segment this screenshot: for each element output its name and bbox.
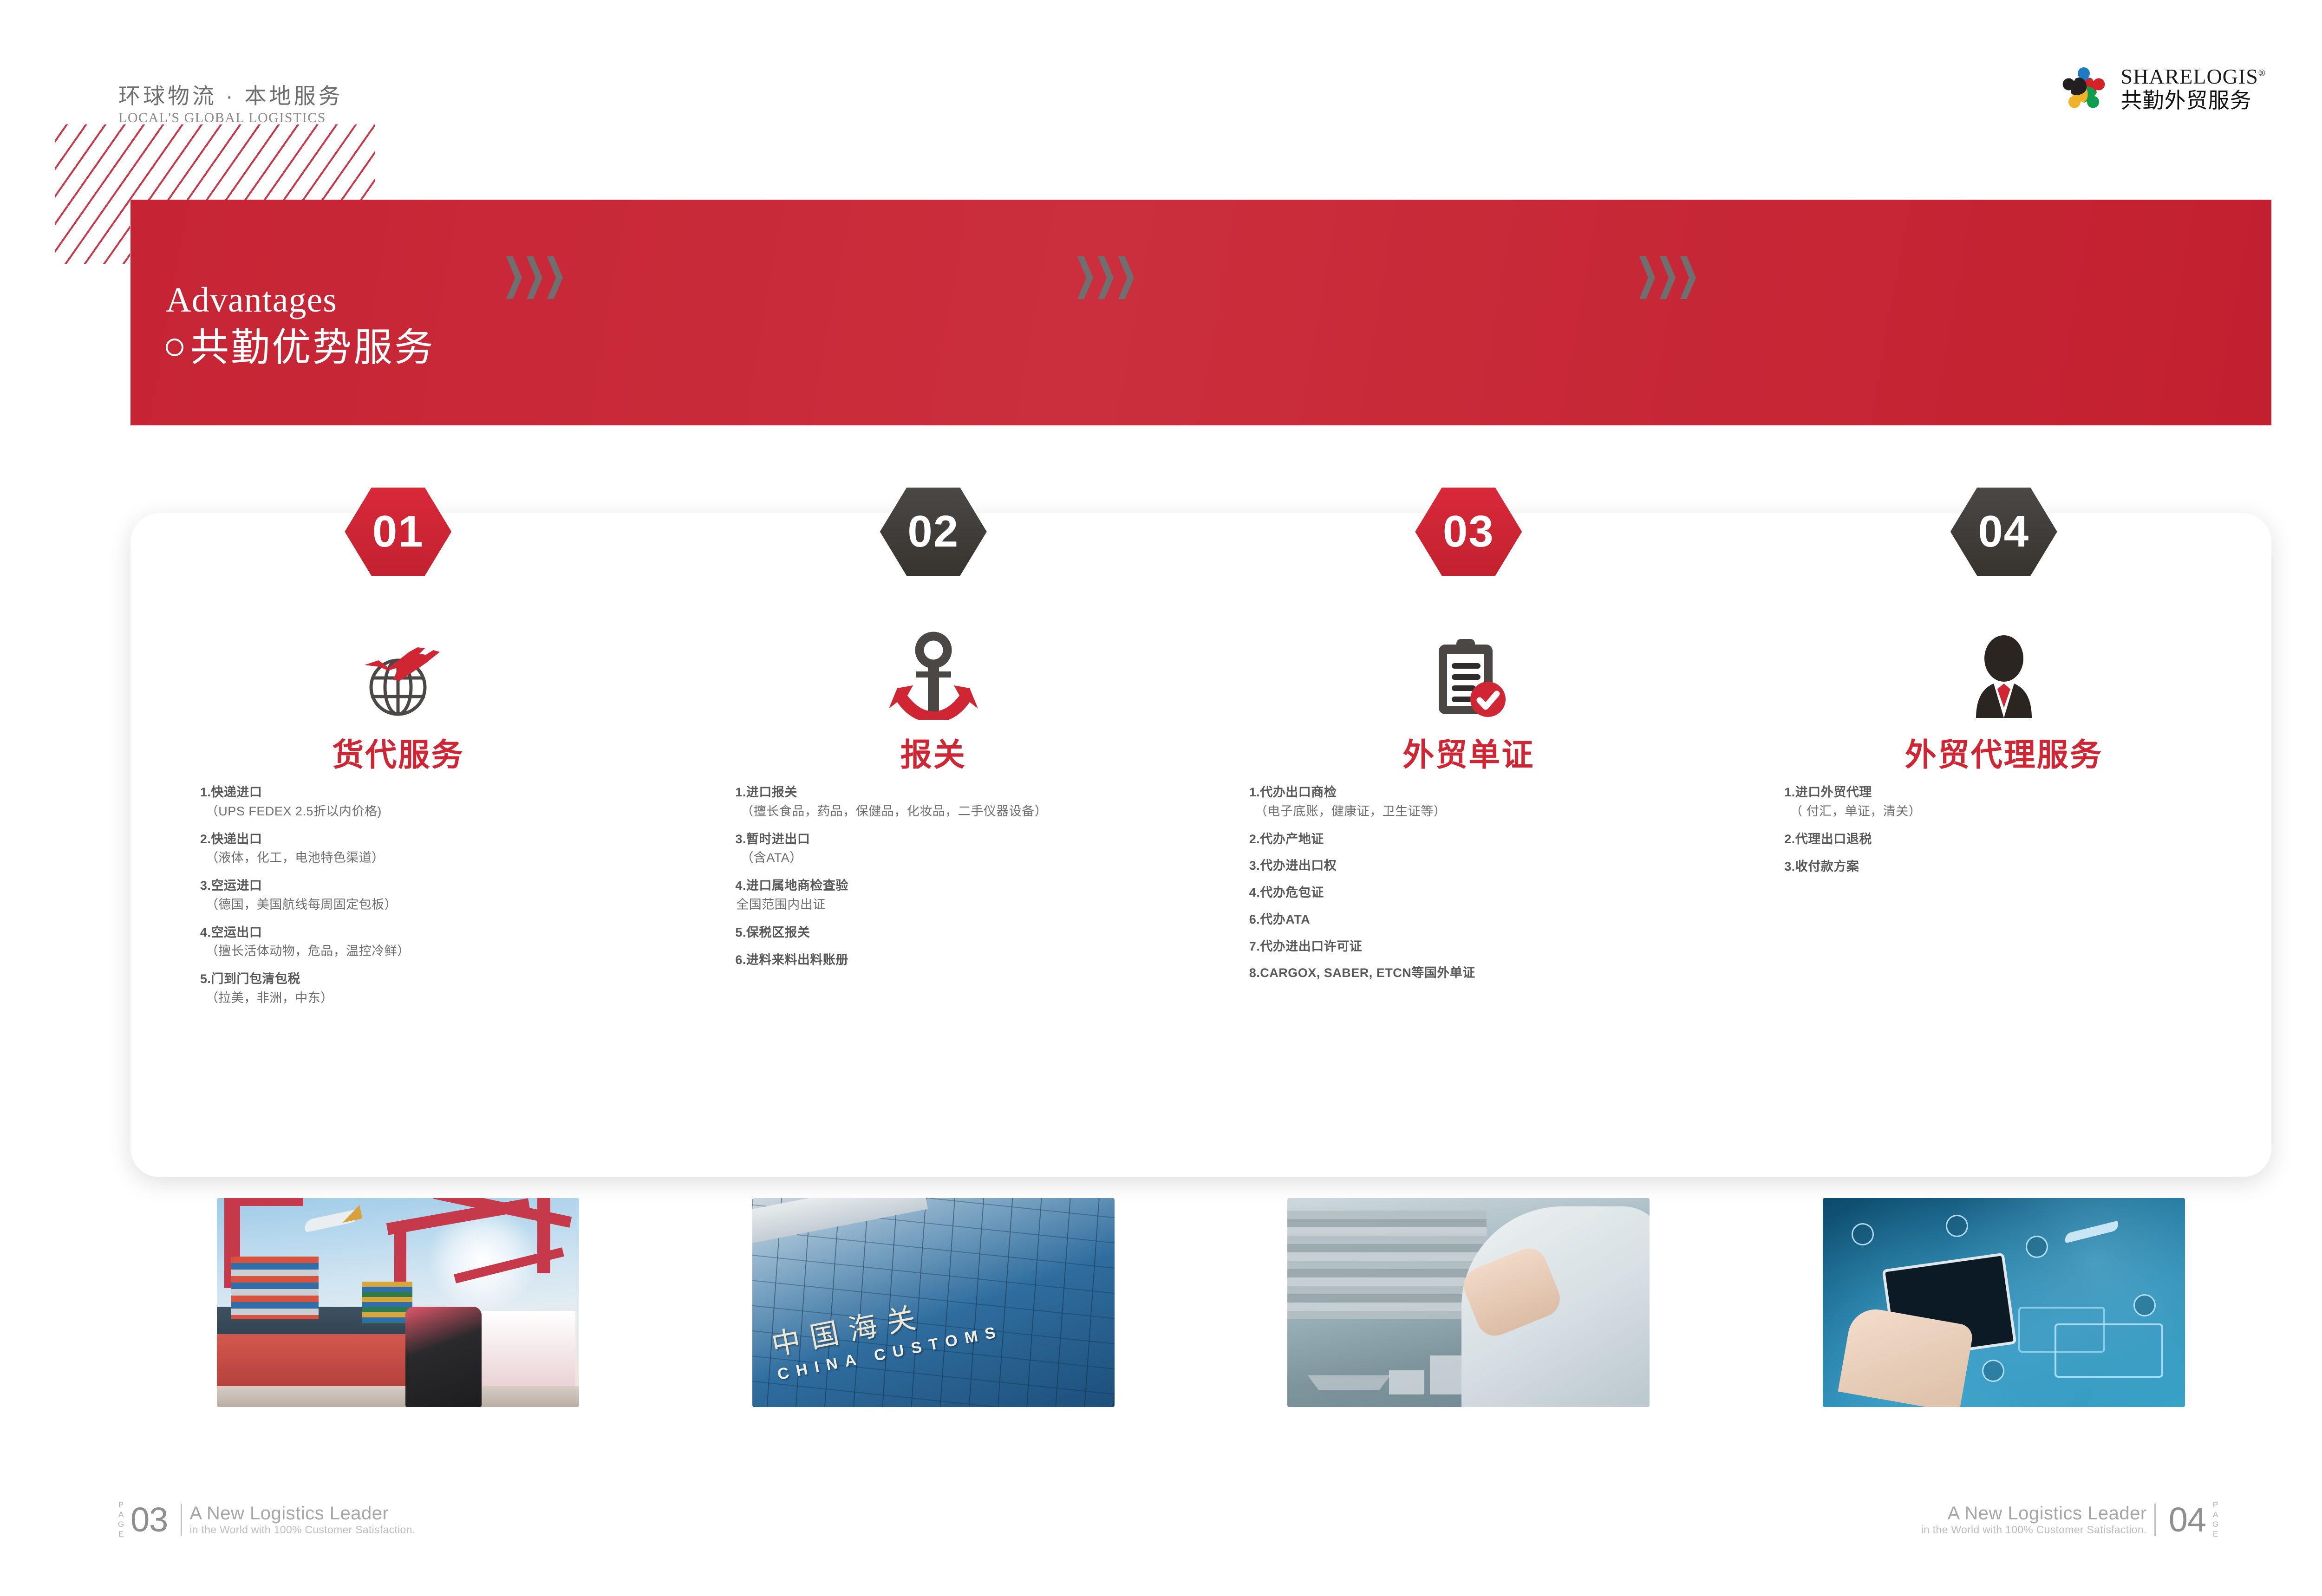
column-item-list: 1.代办出口商检（电子底账，健康证，卫生证等） 2.代办产地证 3.代办进出口权… (1249, 785, 1704, 992)
step-badge-04: 04 (1950, 488, 2057, 576)
list-item: 6.进料来料出料账册 (735, 952, 1169, 968)
item-head: 3.空运进口 (200, 878, 634, 894)
logo-name-en: SHARELOGIS® (2121, 66, 2266, 87)
footer-slogan-line2: in the World with 100% Customer Satisfac… (189, 1524, 415, 1536)
item-sub: 全国范围内出证 (735, 897, 1169, 913)
step-badge-03: 03 (1415, 488, 1522, 576)
step-number: 04 (1978, 506, 2029, 557)
item-head: 2.代理出口退税 (1784, 832, 2239, 847)
item-head: 6.代办ATA (1249, 912, 1704, 928)
column-title: 货代服务 (130, 729, 666, 775)
footer-right: A New Logistics Leader in the World with… (1921, 1500, 2219, 1539)
page-label: PAGE (117, 1500, 125, 1539)
item-sub: （UPS FEDEX 2.5折以内价格) (200, 804, 634, 820)
page-footer: PAGE 03 A New Logistics Leader in the Wo… (0, 1484, 2322, 1539)
footer-divider (2154, 1504, 2156, 1536)
item-sub: （德国，美国航线每周固定包板） (200, 897, 634, 913)
section-banner: Advantages 共勤优势服务 (130, 200, 2271, 425)
list-item: 1.进口报关（擅长食品，药品，保健品，化妆品，二手仪器设备） (735, 785, 1169, 820)
list-item: 4.代办危包证 (1249, 885, 1704, 901)
banner-title-en: Advantages (166, 282, 435, 318)
people-circle-logo-icon (2054, 59, 2113, 119)
item-head: 5.门到门包清包税 (200, 971, 634, 987)
item-head: 2.快递出口 (200, 832, 634, 847)
item-head: 1.代办出口商检 (1249, 785, 1704, 801)
item-head: 3.代办进出口权 (1249, 858, 1704, 874)
column-title: 外贸代理服务 (1736, 729, 2272, 775)
list-item: 4.进口属地商检查验全国范围内出证 (735, 878, 1169, 913)
tagline-en: LOCAL'S GLOBAL LOGISTICS (118, 110, 343, 126)
footer-slogan: A New Logistics Leader in the World with… (189, 1504, 415, 1536)
list-item: 7.代办进出口许可证 (1249, 939, 1704, 955)
item-head: 3.收付款方案 (1784, 859, 2239, 875)
list-item: 2.快递出口（液体，化工，电池特色渠道） (200, 832, 634, 866)
item-head: 6.进料来料出料账册 (735, 952, 1169, 968)
logo-wordmark: SHARELOGIS (2121, 65, 2258, 88)
item-head: 1.进口外贸代理 (1784, 785, 2239, 801)
step-number: 01 (372, 506, 424, 557)
step-badge-01: 01 (345, 488, 451, 576)
step-number: 02 (907, 506, 959, 557)
footer-divider (181, 1504, 182, 1536)
page-number: 03 (130, 1504, 168, 1536)
item-head: 3.暂时进出口 (735, 832, 1169, 847)
port-logistics-photo (217, 1198, 579, 1407)
list-item: 5.保税区报关 (735, 925, 1169, 941)
list-item: 3.代办进出口权 (1249, 858, 1704, 874)
inspection-data-photo (1287, 1198, 1650, 1407)
column-item-list: 1.进口外贸代理（ 付汇，单证，清关） 2.代理出口退税 3.收付款方案 (1784, 785, 2239, 887)
item-head: 1.快递进口 (200, 785, 634, 801)
item-head: 4.进口属地商检查验 (735, 878, 1169, 894)
banner-title-cn: 共勤优势服务 (190, 328, 435, 367)
footer-slogan-line1: A New Logistics Leader (189, 1504, 415, 1523)
list-item: 1.代办出口商检（电子底账，健康证，卫生证等） (1249, 785, 1704, 820)
advantage-column-01[interactable]: 01 货代服务 1.快递进口（UPS FEDEX 2.5折以内价格) (130, 488, 666, 1193)
triple-chevron-right-icon (1077, 256, 1147, 299)
list-item: 3.暂时进出口（含ATA） (735, 832, 1169, 866)
page-label: PAGE (2211, 1500, 2219, 1539)
list-item: 2.代办产地证 (1249, 832, 1704, 847)
tagline-cn: 环球物流 · 本地服务 (118, 84, 343, 109)
step-badge-02: 02 (880, 488, 987, 576)
brand-logo: SHARELOGIS® 共勤外贸服务 (2054, 59, 2266, 119)
list-item: 3.收付款方案 (1784, 859, 2239, 875)
footer-left: PAGE 03 A New Logistics Leader in the Wo… (117, 1500, 415, 1539)
column-item-list: 1.进口报关（擅长食品，药品，保健品，化妆品，二手仪器设备） 3.暂时进出口（含… (735, 785, 1169, 980)
registered-mark: ® (2258, 68, 2266, 78)
list-item: 5.门到门包清包税（拉美，非洲，中东） (200, 971, 634, 1006)
advantage-columns: 01 货代服务 1.快递进口（UPS FEDEX 2.5折以内价格) (130, 488, 2271, 1193)
item-head: 4.代办危包证 (1249, 885, 1704, 901)
businessman-icon (1957, 632, 2050, 720)
footer-slogan-line1: A New Logistics Leader (1921, 1504, 2147, 1523)
circle-bullet-icon (166, 339, 183, 356)
list-item: 8.CARGOX, SABER, ETCN等国外单证 (1249, 965, 1704, 981)
list-item: 4.空运出口（擅长活体动物，危品，温控冷鲜） (200, 925, 634, 960)
item-head: 1.进口报关 (735, 785, 1169, 801)
list-item: 2.代理出口退税 (1784, 832, 2239, 847)
page-number: 04 (2169, 1504, 2206, 1536)
advantage-column-02[interactable]: 02 报关 1.进口报关（擅长食品，药品，保健品，化妆品，二手仪器设备） 3.暂… (666, 488, 1201, 1193)
list-item: 3.空运进口（德国，美国航线每周固定包板） (200, 878, 634, 913)
footer-slogan-line2: in the World with 100% Customer Satisfac… (1921, 1524, 2147, 1536)
china-customs-building-photo: 中国海关 CHINA CUSTOMS (752, 1198, 1115, 1407)
anchor-icon (887, 632, 980, 720)
globe-airplane-icon (352, 632, 444, 720)
column-item-list: 1.快递进口（UPS FEDEX 2.5折以内价格) 2.快递出口（液体，化工，… (200, 785, 634, 1018)
item-head: 2.代办产地证 (1249, 832, 1704, 847)
advantage-column-03[interactable]: 03 外贸单证 1.代 (1201, 488, 1736, 1193)
clipboard-check-icon (1422, 632, 1515, 720)
logo-name-cn: 共勤外贸服务 (2121, 89, 2266, 112)
item-head: 7.代办进出口许可证 (1249, 939, 1704, 955)
triple-chevron-right-icon (506, 256, 576, 299)
item-head: 5.保税区报关 (735, 925, 1169, 941)
step-number: 03 (1443, 506, 1494, 557)
photo-strip: 中国海关 CHINA CUSTOMS (130, 1198, 2271, 1421)
item-sub: （ 付汇，单证，清关） (1784, 804, 2239, 820)
item-sub: （擅长食品，药品，保健品，化妆品，二手仪器设备） (735, 804, 1169, 820)
item-head: 8.CARGOX, SABER, ETCN等国外单证 (1249, 965, 1704, 981)
advantage-column-04[interactable]: 04 外贸代理服务 1.进口外贸代理（ 付汇，单证，清关） 2.代理出口退税 3… (1736, 488, 2272, 1193)
item-sub: （含ATA） (735, 850, 1169, 866)
digital-logistics-photo (1823, 1198, 2185, 1407)
header-tagline: 环球物流 · 本地服务 LOCAL'S GLOBAL LOGISTICS (118, 84, 343, 126)
item-sub: （电子底账，健康证，卫生证等） (1249, 804, 1704, 820)
item-sub: （拉美，非洲，中东） (200, 990, 634, 1006)
item-sub: （擅长活体动物，危品，温控冷鲜） (200, 944, 634, 959)
slide-page: 环球物流 · 本地服务 LOCAL'S GLOBAL LOGISTICS (0, 0, 2322, 1596)
list-item: 6.代办ATA (1249, 912, 1704, 928)
column-title: 报关 (666, 729, 1201, 775)
column-title: 外贸单证 (1201, 729, 1736, 775)
item-sub: （液体，化工，电池特色渠道） (200, 850, 634, 866)
item-head: 4.空运出口 (200, 925, 634, 941)
footer-slogan: A New Logistics Leader in the World with… (1921, 1504, 2147, 1536)
list-item: 1.快递进口（UPS FEDEX 2.5折以内价格) (200, 785, 634, 820)
triple-chevron-right-icon (1639, 256, 1709, 299)
list-item: 1.进口外贸代理（ 付汇，单证，清关） (1784, 785, 2239, 820)
